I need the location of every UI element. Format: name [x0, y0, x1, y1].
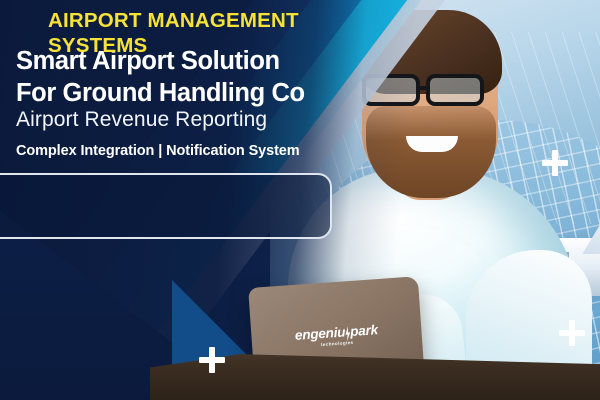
- subheading: Airport Revenue Reporting: [16, 108, 267, 132]
- plus-icon: [559, 320, 585, 346]
- airport-solution-banner: engeniupark technologies Smart Airport S…: [0, 0, 600, 400]
- badge-line-1: AIRPORT MANAGEMENT: [48, 9, 299, 32]
- plus-icon: [199, 347, 225, 373]
- badge-text: AIRPORT MANAGEMENT SYSTEMS: [48, 8, 348, 58]
- plus-icon: [542, 150, 568, 176]
- headline-line-2: For Ground Handling Co: [16, 77, 356, 109]
- airport-management-systems-badge: [0, 173, 332, 239]
- badge-line-2: SYSTEMS: [48, 34, 147, 57]
- tagline: Complex Integration | Notification Syste…: [16, 143, 300, 159]
- banner-content: Smart Airport Solution For Ground Handli…: [0, 0, 600, 400]
